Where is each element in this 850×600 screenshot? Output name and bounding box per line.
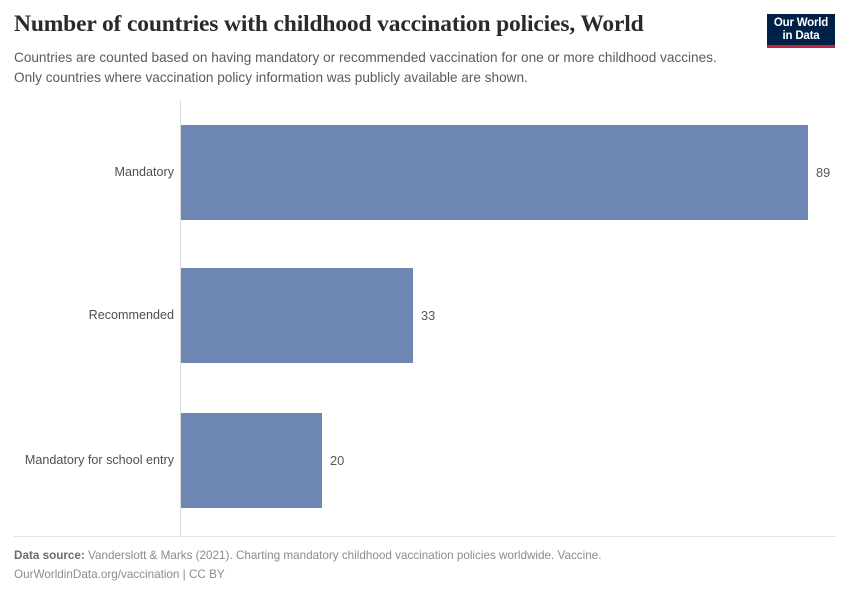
data-source-text: Vanderslott & Marks (2021). Charting man… [85, 549, 602, 562]
footer-divider [14, 536, 836, 537]
bar-value-label: 33 [421, 308, 435, 323]
bar-category-label: Mandatory for school entry [0, 453, 174, 467]
bar-value-label: 20 [330, 453, 344, 468]
logo-line-1: Our World [767, 17, 835, 30]
footer-link-line[interactable]: OurWorldinData.org/vaccination | CC BY [14, 565, 814, 584]
page-title: Number of countries with childhood vacci… [14, 10, 754, 38]
bar[interactable] [181, 413, 322, 508]
bar-category-label: Mandatory [0, 165, 174, 179]
chart-header: Number of countries with childhood vacci… [0, 0, 850, 100]
footer-source-line: Data source: Vanderslott & Marks (2021).… [14, 546, 814, 565]
logo-line-2: in Data [767, 30, 835, 43]
chart-subtitle: Countries are counted based on having ma… [14, 48, 724, 87]
bar-category-label: Recommended [0, 308, 174, 322]
chart-footer: Data source: Vanderslott & Marks (2021).… [14, 546, 814, 584]
our-world-in-data-logo[interactable]: Our World in Data [767, 14, 835, 48]
bar[interactable] [181, 125, 808, 220]
data-source-label: Data source: [14, 549, 85, 562]
bar-value-label: 89 [816, 165, 830, 180]
bar[interactable] [181, 268, 413, 363]
chart-plot-area: Mandatory89Recommended33Mandatory for sc… [0, 100, 850, 536]
